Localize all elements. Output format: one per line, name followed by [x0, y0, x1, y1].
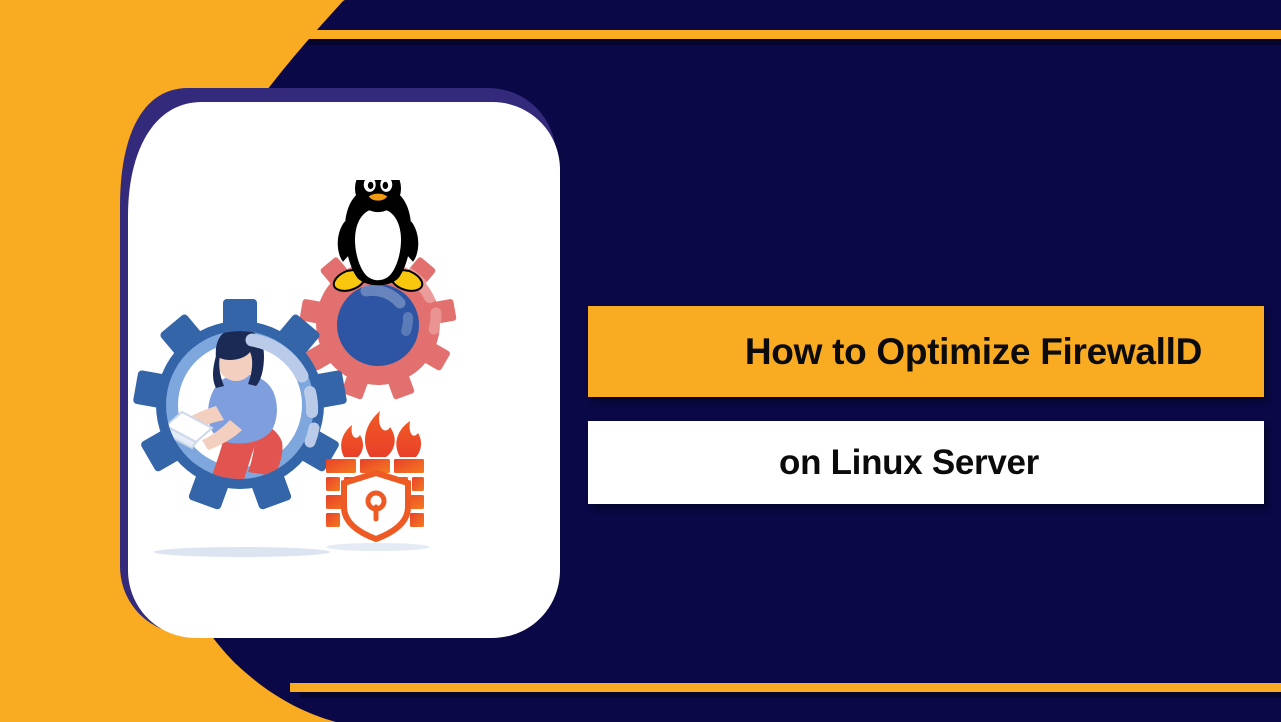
- firewall-icon: [326, 411, 430, 551]
- title-secondary-text: on Linux Server: [779, 443, 1073, 483]
- bottom-rule-shadow: [300, 691, 1281, 698]
- flame-icon: [341, 411, 421, 457]
- illustration-artwork: [130, 180, 530, 580]
- title-primary-text: How to Optimize FirewallD: [745, 331, 1264, 373]
- firewall-shadow: [326, 543, 430, 551]
- title-banner-secondary: on Linux Server: [588, 421, 1264, 504]
- poster-canvas: How to Optimize FirewallD on Linux Serve…: [0, 0, 1281, 722]
- linux-penguin-icon: [334, 180, 422, 291]
- bottom-yellow-rule: [290, 683, 1281, 692]
- ground-shadow: [154, 547, 330, 557]
- blue-gear: [133, 299, 348, 557]
- firewalld-linux-illustration: [130, 180, 530, 580]
- top-yellow-rule: [282, 30, 1281, 39]
- top-rule-shadow: [292, 38, 1281, 45]
- title-banner-primary: How to Optimize FirewallD: [588, 306, 1264, 397]
